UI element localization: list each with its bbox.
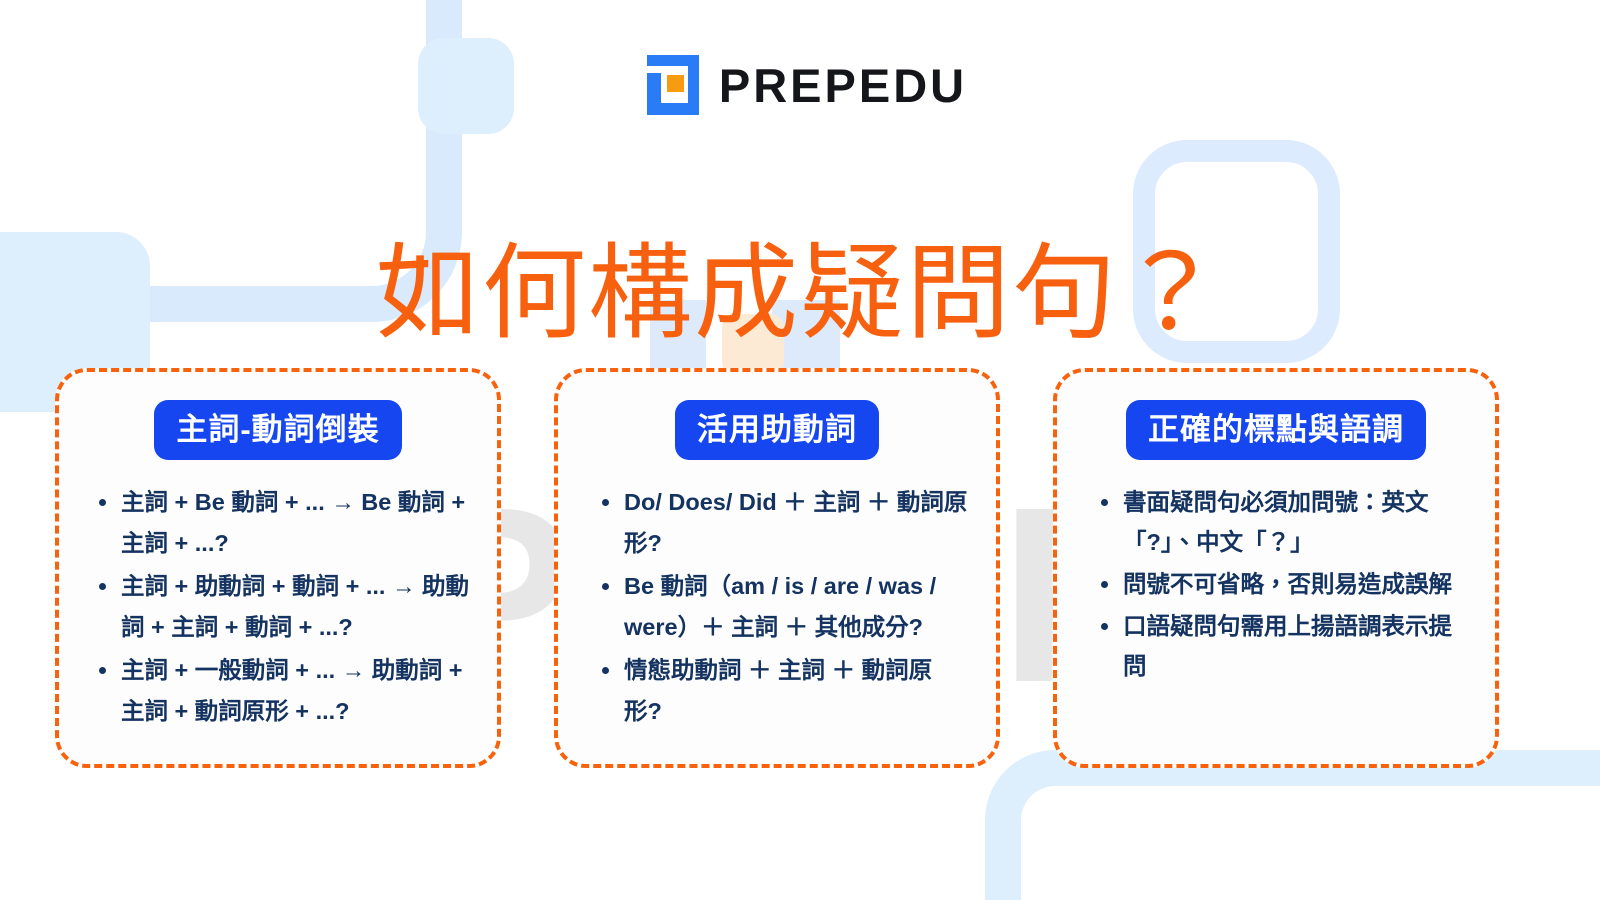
list-item: 口語疑問句需用上揚語調表示提問 <box>1123 606 1467 686</box>
card-subject-verb-inversion: 主詞-動詞倒裝 主詞 + Be 動詞 + ... → Be 動詞 + 主詞 + … <box>55 368 501 768</box>
list-item: 主詞 + 一般動詞 + ... → 助動詞 + 主詞 + 動詞原形 + ...? <box>121 650 469 732</box>
list-item: 問號不可省略，否則易造成誤解 <box>1123 564 1467 604</box>
list-item: Be 動詞（am / is / are / was / were）＋ 主詞 ＋ … <box>624 566 968 648</box>
brand-wordmark: PREPEDU <box>719 58 967 113</box>
prepedu-p-mark-icon <box>633 55 699 115</box>
card-punctuation-intonation: 正確的標點與語調 書面疑問句必須加問號：英文「?」、中文「？」 問號不可省略，否… <box>1053 368 1499 768</box>
card-group: 主詞-動詞倒裝 主詞 + Be 動詞 + ... → Be 動詞 + 主詞 + … <box>55 368 1545 768</box>
infographic-canvas: PREP PREPEDU 如何構成疑問句？ 主詞-動詞倒裝 主詞 + Be 動詞… <box>0 0 1600 900</box>
card-bullet-list: Do/ Does/ Did ＋ 主詞 ＋ 動詞原形? Be 動詞（am / is… <box>580 482 974 732</box>
card-bullet-list: 主詞 + Be 動詞 + ... → Be 動詞 + 主詞 + ...? 主詞 … <box>81 482 475 732</box>
list-item: 書面疑問句必須加問號：英文「?」、中文「？」 <box>1123 482 1467 562</box>
card-badge: 活用助動詞 <box>675 400 879 460</box>
list-item: Do/ Does/ Did ＋ 主詞 ＋ 動詞原形? <box>624 482 968 564</box>
list-item: 主詞 + 助動詞 + 動詞 + ... → 助動詞 + 主詞 + 動詞 + ..… <box>121 566 469 648</box>
card-auxiliary-verbs: 活用助動詞 Do/ Does/ Did ＋ 主詞 ＋ 動詞原形? Be 動詞（a… <box>554 368 1000 768</box>
card-badge: 正確的標點與語調 <box>1126 400 1426 460</box>
card-badge: 主詞-動詞倒裝 <box>154 400 401 460</box>
card-bullet-list: 書面疑問句必須加問號：英文「?」、中文「？」 問號不可省略，否則易造成誤解 口語… <box>1079 482 1473 686</box>
decor-rounded-frame-bottom-right <box>985 750 1600 900</box>
brand-logo: PREPEDU <box>0 55 1600 115</box>
list-item: 主詞 + Be 動詞 + ... → Be 動詞 + 主詞 + ...? <box>121 482 469 564</box>
list-item: 情態助動詞 ＋ 主詞 ＋ 動詞原形? <box>624 650 968 732</box>
page-title: 如何構成疑問句？ <box>0 228 1600 360</box>
